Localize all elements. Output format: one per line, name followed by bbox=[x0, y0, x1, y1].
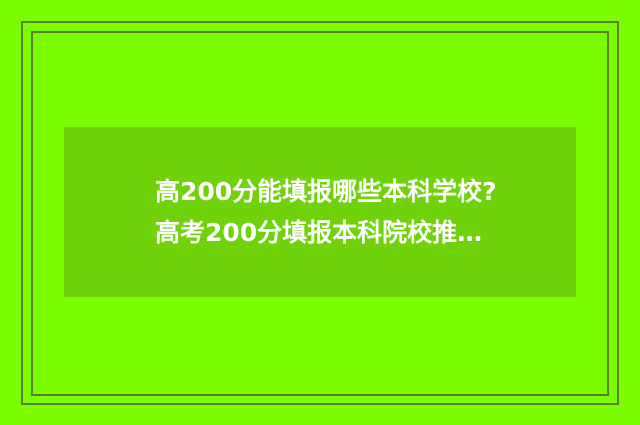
poster-canvas: 高200分能填报哪些本科学校? 高考200分填报本科院校推… bbox=[0, 0, 640, 425]
headline-line-2: 高考200分填报本科院校推… bbox=[155, 212, 552, 253]
headline-panel: 高200分能填报哪些本科学校? 高考200分填报本科院校推… bbox=[64, 127, 576, 297]
headline-line-1: 高200分能填报哪些本科学校? bbox=[155, 171, 552, 212]
